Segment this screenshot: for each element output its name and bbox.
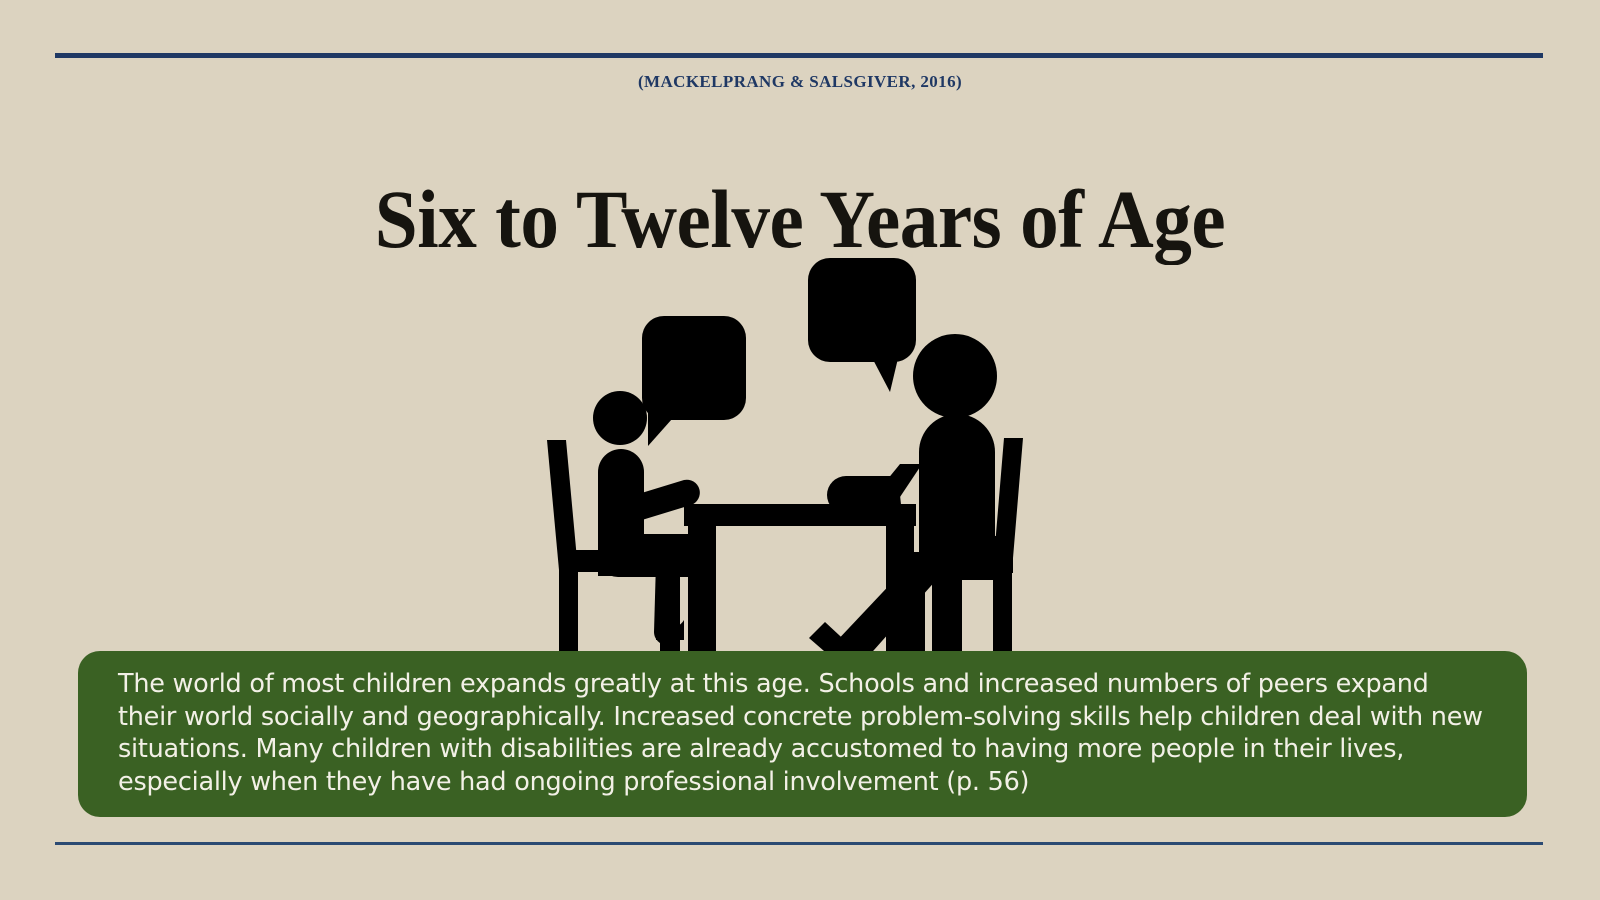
- top-divider-rule: [55, 53, 1543, 58]
- quote-callout-box: The world of most children expands great…: [78, 651, 1527, 817]
- bottom-divider-rule: [55, 842, 1543, 845]
- speech-bubble-left-shape: [642, 316, 746, 446]
- adult-figure-shape: [809, 334, 999, 652]
- source-citation: (MACKELPRANG & SALSGIVER, 2016): [0, 72, 1600, 92]
- child-figure-shape: [593, 391, 700, 645]
- conversation-illustration: [520, 240, 1060, 652]
- quote-text: The world of most children expands great…: [118, 668, 1491, 798]
- speech-bubble-right-shape: [808, 258, 916, 392]
- slide-canvas: (MACKELPRANG & SALSGIVER, 2016) Six to T…: [0, 0, 1600, 900]
